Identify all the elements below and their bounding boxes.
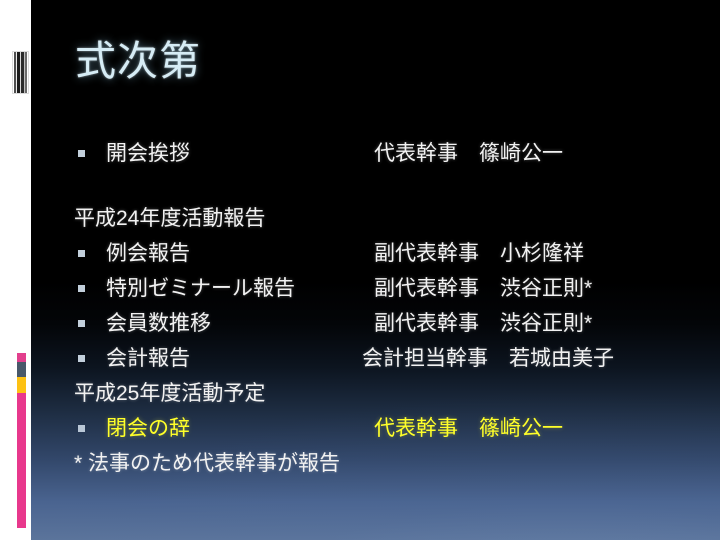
list-item: 会員数推移副代表幹事 渋谷正則* [74, 306, 674, 341]
list-item-label: 会計報告 [106, 341, 190, 376]
list-item-label: 平成25年度活動予定 [74, 376, 265, 411]
ribbon-segment-pink-long [17, 393, 26, 528]
list-item-label: 会員数推移 [106, 306, 211, 341]
list-item-role: 副代表幹事 小杉隆祥 [374, 236, 584, 271]
list-item: * 法事のため代表幹事が報告 [74, 446, 674, 481]
list-item-label: 開会挨拶 [106, 136, 190, 171]
list-item-label: 平成24年度活動報告 [74, 201, 265, 236]
list-spacer [74, 171, 674, 201]
color-ribbon-ornament [17, 353, 26, 528]
ribbon-segment-slate [17, 362, 26, 377]
ribbon-segment-pink-top [17, 353, 26, 362]
list-item: 開会挨拶代表幹事 篠崎公一 [74, 136, 674, 171]
list-item: 平成25年度活動予定 [74, 376, 674, 411]
slide-body-list: 開会挨拶代表幹事 篠崎公一平成24年度活動報告例会報告副代表幹事 小杉隆祥特別ゼ… [74, 136, 674, 481]
square-bullet-icon [78, 150, 85, 157]
list-item-role: 代表幹事 篠崎公一 [374, 136, 563, 171]
slide-title: 式次第 [75, 38, 655, 85]
list-item: 例会報告副代表幹事 小杉隆祥 [74, 236, 674, 271]
list-item-label: * 法事のため代表幹事が報告 [74, 446, 340, 481]
list-item-role: 副代表幹事 渋谷正則* [374, 271, 592, 306]
list-item: 閉会の辞代表幹事 篠崎公一 [74, 411, 674, 446]
list-item: 会計報告会計担当幹事 若城由美子 [74, 341, 674, 376]
square-bullet-icon [78, 355, 85, 362]
list-item-role: 副代表幹事 渋谷正則* [374, 306, 592, 341]
list-item-role: 代表幹事 篠崎公一 [374, 411, 563, 446]
square-bullet-icon [78, 425, 85, 432]
square-bullet-icon [78, 285, 85, 292]
presentation-slide: 式次第 開会挨拶代表幹事 篠崎公一平成24年度活動報告例会報告副代表幹事 小杉隆… [0, 0, 720, 540]
ribbon-segment-gold [17, 377, 26, 393]
list-item: 平成24年度活動報告 [74, 201, 674, 236]
list-item-label: 閉会の辞 [106, 411, 190, 446]
list-item-role: 会計担当幹事 若城由美子 [362, 341, 614, 376]
striped-bar-ornament-icon [13, 52, 28, 93]
square-bullet-icon [78, 320, 85, 327]
list-item-label: 例会報告 [106, 236, 190, 271]
list-item: 特別ゼミナール報告副代表幹事 渋谷正則* [74, 271, 674, 306]
square-bullet-icon [78, 250, 85, 257]
list-item-label: 特別ゼミナール報告 [106, 271, 295, 306]
